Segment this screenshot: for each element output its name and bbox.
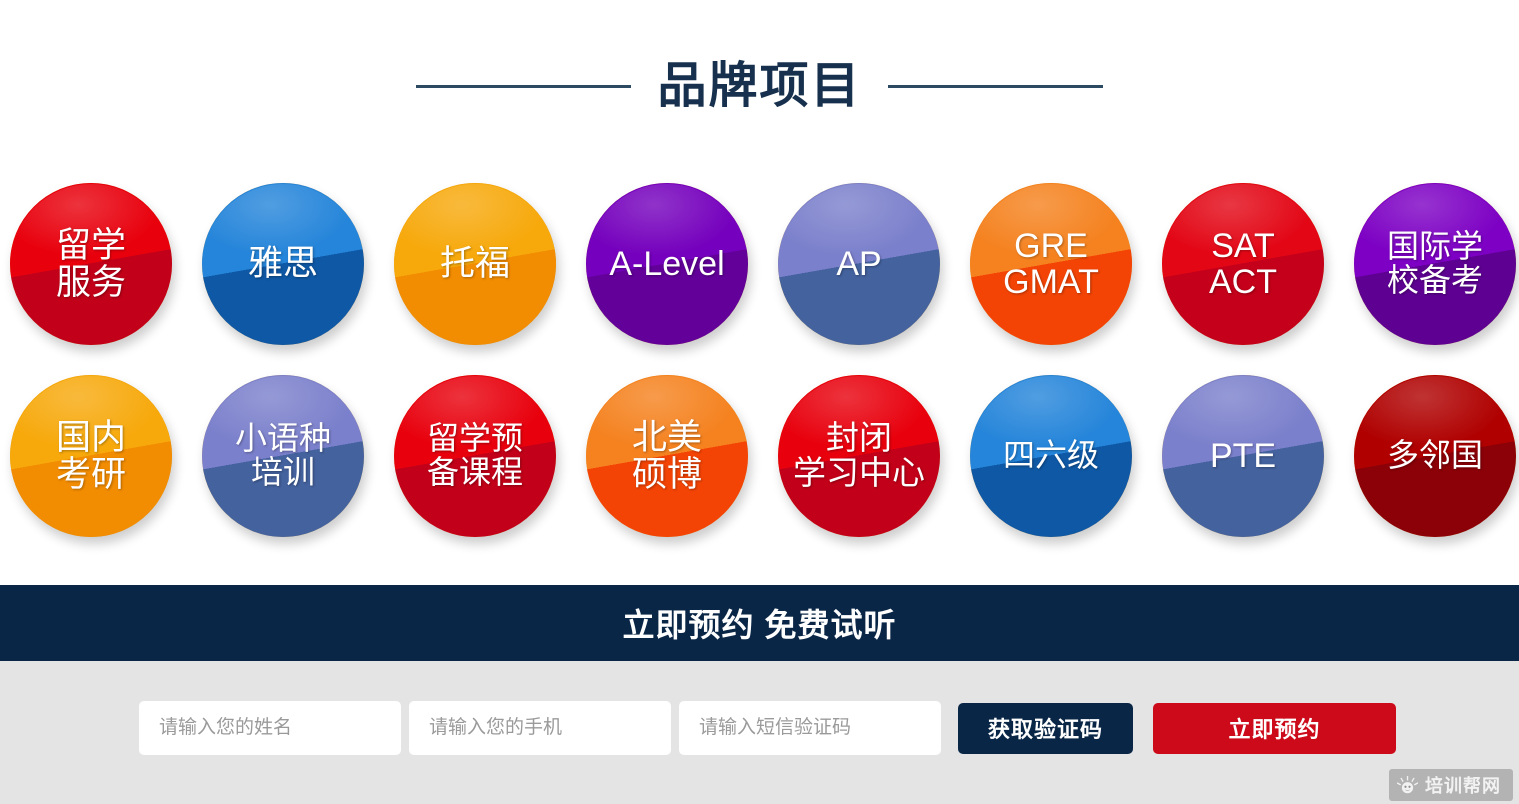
- program-label: GREGMAT: [1003, 228, 1099, 300]
- program-label: SATACT: [1209, 228, 1277, 300]
- booking-form-strip: 获取验证码 立即预约: [0, 661, 1519, 804]
- program-bubble-toefl[interactable]: 托福: [394, 183, 556, 345]
- phone-input[interactable]: [409, 701, 671, 755]
- program-bubble-minor-languages[interactable]: 小语种培训: [202, 375, 364, 537]
- title-rule-right: [888, 85, 1103, 88]
- submit-booking-button[interactable]: 立即预约: [1153, 703, 1396, 754]
- program-label: 小语种培训: [235, 422, 331, 490]
- program-label: PTE: [1210, 438, 1276, 474]
- program-bubble-liuxuefuwu[interactable]: 留学服务: [10, 183, 172, 345]
- program-label: A-Level: [609, 246, 724, 282]
- program-label: AP: [836, 246, 881, 282]
- program-row-1: 留学服务 雅思 托福 A-Level AP: [10, 183, 1519, 345]
- get-sms-code-button[interactable]: 获取验证码: [958, 703, 1133, 754]
- program-label: 留学预备课程: [427, 422, 523, 490]
- booking-banner: 立即预约 免费试听: [0, 585, 1519, 661]
- program-bubble-sat-act[interactable]: SATACT: [1162, 183, 1324, 345]
- program-bubble-closed-study-center[interactable]: 封闭学习中心: [778, 375, 940, 537]
- program-label: 国内考研: [56, 419, 126, 493]
- program-bubble-cet46[interactable]: 四六级: [970, 375, 1132, 537]
- program-label: 北美硕博: [632, 419, 702, 493]
- program-label: 留学服务: [56, 227, 126, 301]
- page-title-block: 品牌项目: [0, 62, 1519, 111]
- page-title: 品牌项目: [657, 62, 861, 111]
- program-label: 托福: [440, 245, 510, 282]
- program-label: 封闭学习中心: [793, 421, 925, 491]
- program-bubble-north-america-masters-phd[interactable]: 北美硕博: [586, 375, 748, 537]
- program-bubble-gre-gmat[interactable]: GREGMAT: [970, 183, 1132, 345]
- program-label: 四六级: [1003, 439, 1099, 473]
- site-watermark: 培训帮网: [1389, 769, 1513, 801]
- title-rule-left: [416, 85, 631, 88]
- program-bubble-ap[interactable]: AP: [778, 183, 940, 345]
- watermark-text: 培训帮网: [1425, 772, 1501, 798]
- program-row-2: 国内考研 小语种培训 留学预备课程 北美硕博 封闭学习中心: [10, 375, 1519, 537]
- program-label: 雅思: [248, 245, 318, 282]
- name-input[interactable]: [139, 701, 401, 755]
- booking-banner-text: 立即预约 免费试听: [623, 600, 897, 646]
- program-bubble-duolingo[interactable]: 多邻国: [1354, 375, 1516, 537]
- program-bubble-study-abroad-prep[interactable]: 留学预备课程: [394, 375, 556, 537]
- brand-programs-page: 品牌项目 留学服务 雅思 托福 A-Level: [0, 0, 1519, 804]
- sms-code-input[interactable]: [679, 701, 941, 755]
- program-bubble-alevel[interactable]: A-Level: [586, 183, 748, 345]
- program-bubble-domestic-postgrad[interactable]: 国内考研: [10, 375, 172, 537]
- program-label: 多邻国: [1387, 439, 1483, 473]
- booking-form: 获取验证码 立即预约: [139, 701, 1396, 755]
- program-bubble-pte[interactable]: PTE: [1162, 375, 1324, 537]
- program-bubble-international-school-prep[interactable]: 国际学校备考: [1354, 183, 1516, 345]
- program-grid: 留学服务 雅思 托福 A-Level AP: [10, 183, 1519, 537]
- sun-face-icon: [1397, 775, 1418, 796]
- program-label: 国际学校备考: [1387, 230, 1483, 298]
- program-bubble-ielts[interactable]: 雅思: [202, 183, 364, 345]
